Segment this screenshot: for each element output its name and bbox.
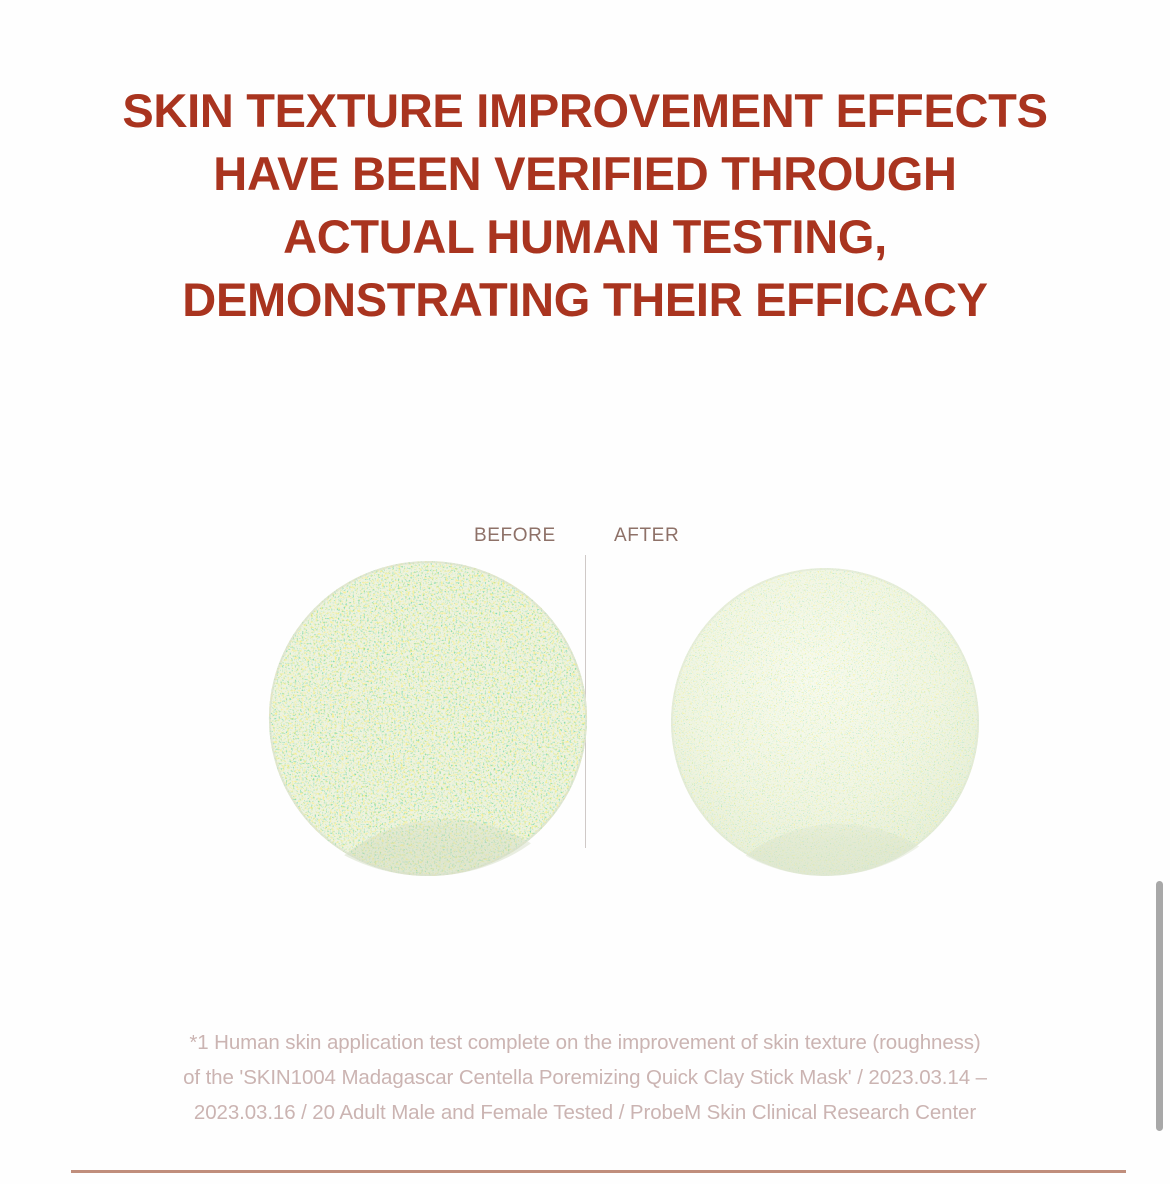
before-label: BEFORE [474, 525, 556, 547]
before-swatch-image [259, 561, 597, 876]
section-divider-rule [71, 1170, 1126, 1173]
page-headline: SKIN TEXTURE IMPROVEMENT EFFECTS HAVE BE… [0, 79, 1170, 331]
after-label: AFTER [614, 525, 679, 547]
before-after-comparison: BEFORE AFTER [0, 505, 1170, 885]
page-scrollbar-thumb[interactable] [1156, 881, 1163, 1131]
after-swatch-image [665, 568, 985, 876]
page-scrollbar-track[interactable] [1156, 0, 1170, 1184]
clinical-test-footnote: *1 Human skin application test complete … [0, 1025, 1170, 1130]
